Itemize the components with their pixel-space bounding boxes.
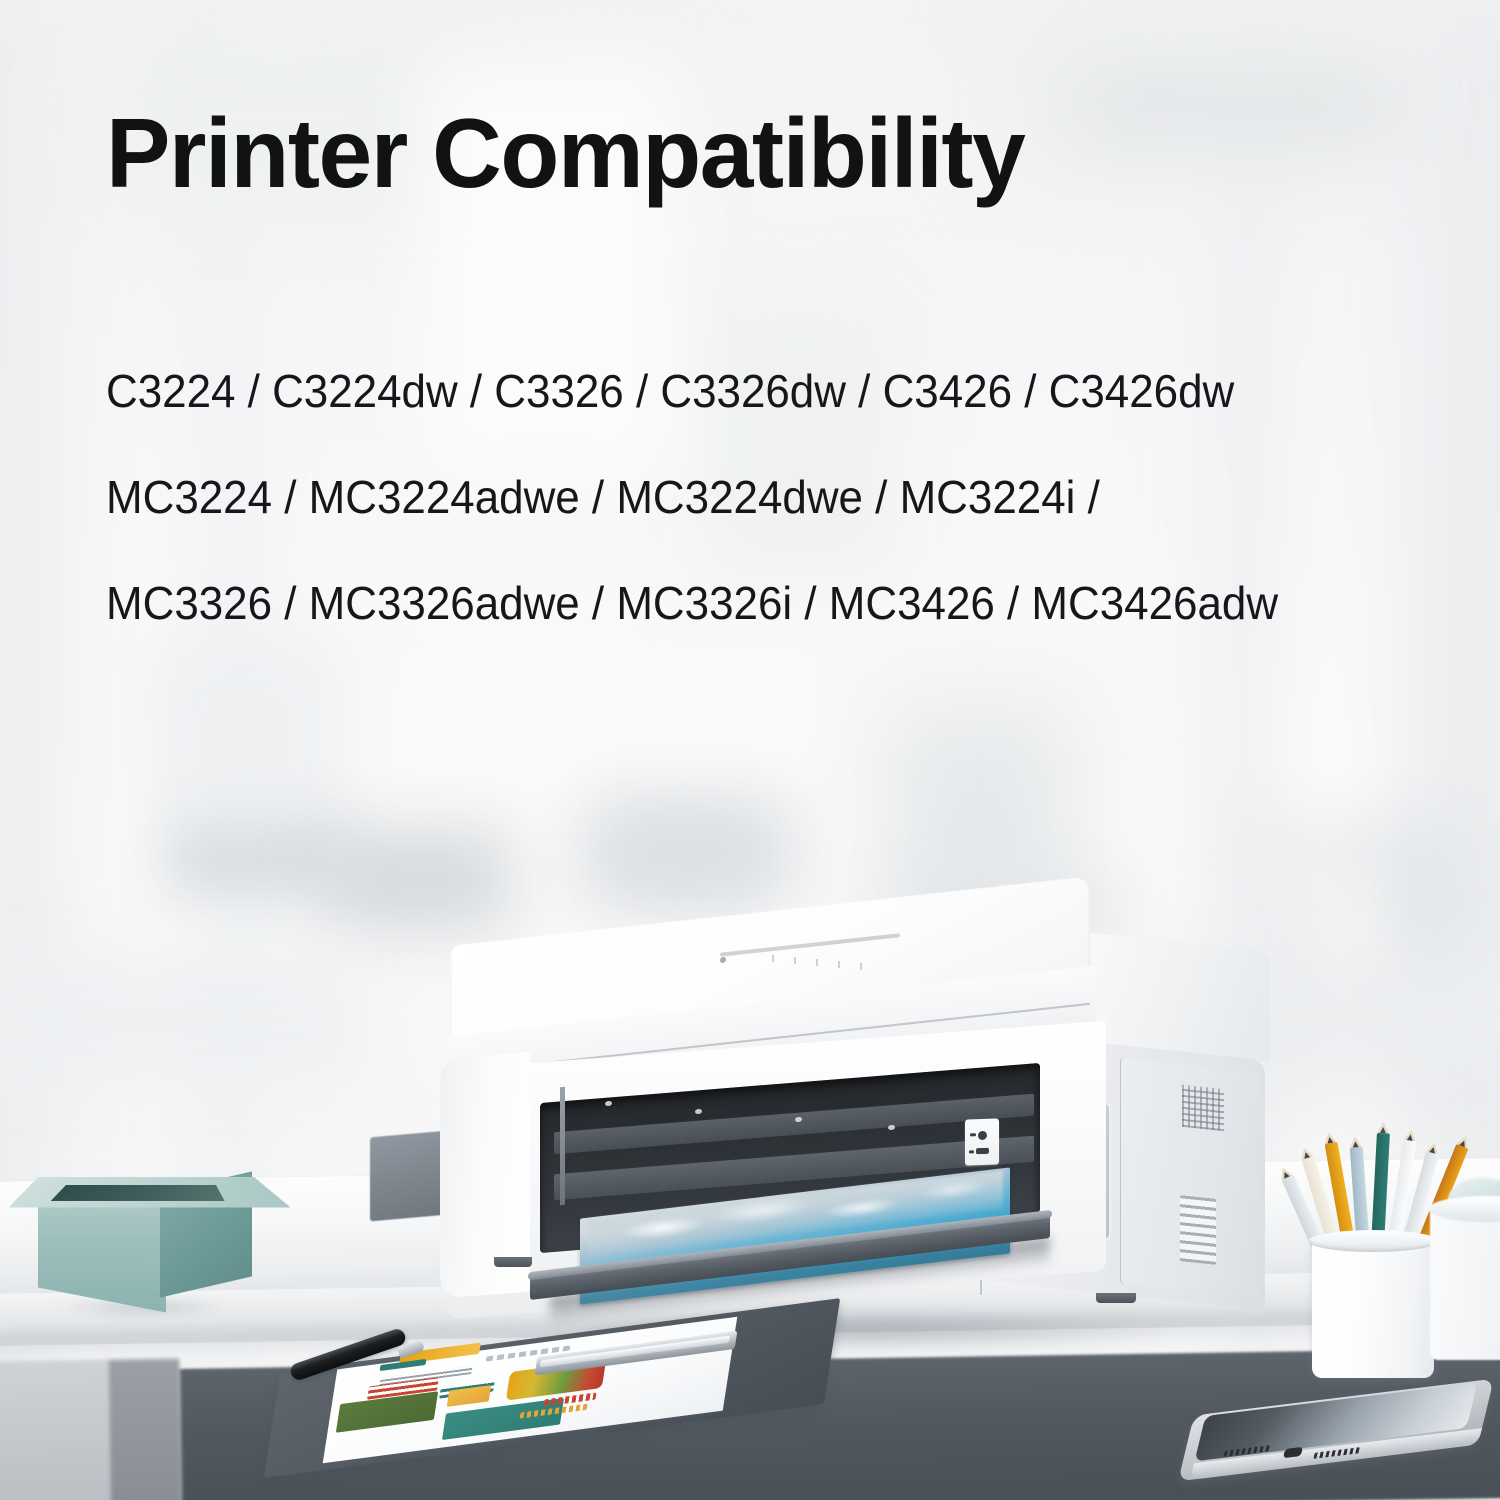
pencil-tip-icon <box>1298 1146 1313 1160</box>
cancel-button-icon[interactable] <box>976 1148 989 1154</box>
product-infographic: Printer Compatibility C3224 / C3224dw / … <box>0 0 1500 1500</box>
pencil-tip-icon <box>1404 1129 1418 1142</box>
printer-lid-tick-3 <box>816 959 818 966</box>
teal-box-opening <box>51 1185 225 1201</box>
pencil-tip-icon <box>1323 1131 1337 1144</box>
printer-control-panel[interactable] <box>965 1118 999 1165</box>
model-line-3: MC3326 / MC3326adwe / MC3326i / MC3426 /… <box>106 550 1367 656</box>
printer <box>420 905 1300 1325</box>
pencil-cup-rim <box>1308 1230 1438 1252</box>
smartphone <box>1186 1388 1500 1498</box>
printer-lid-tick-4 <box>838 961 840 968</box>
printer-foot-left <box>494 1257 532 1267</box>
background-counter-left <box>0 960 360 1080</box>
page-title: Printer Compatibility <box>106 104 1024 202</box>
model-line-1: C3224 / C3224dw / C3326 / C3326dw / C342… <box>106 338 1367 444</box>
printer-vent-slots <box>1180 1195 1216 1265</box>
model-line-2: MC3224 / MC3224adwe / MC3224dwe / MC3224… <box>106 444 1367 550</box>
printer-cavity-left-edge <box>560 1087 565 1205</box>
teal-storage-box <box>14 1165 274 1325</box>
paper-led-icon <box>969 1150 974 1153</box>
printer-vent-grid <box>1182 1085 1224 1131</box>
pencil-tip-icon <box>1456 1134 1471 1149</box>
model-list: C3224 / C3224dw / C3326 / C3326dw / C342… <box>106 338 1426 656</box>
background-poster <box>590 810 770 900</box>
printer-lid-tick-5 <box>860 963 862 970</box>
desk-lower-left-divider <box>109 1359 181 1500</box>
clipboard <box>272 1318 872 1468</box>
printer-lid-tick-2 <box>794 957 796 964</box>
printer-foot-right <box>1096 1293 1136 1303</box>
pencil-cup-body <box>1312 1238 1434 1378</box>
secondary-container <box>1430 1210 1500 1360</box>
pencil-tip-icon <box>1426 1141 1440 1155</box>
power-button-icon[interactable] <box>978 1131 987 1140</box>
background-cabinet-left-shadow <box>170 830 345 890</box>
text-block: Printer Compatibility C3224 / C3224dw / … <box>0 0 1500 700</box>
pencil-tip-icon <box>1377 1122 1390 1134</box>
printer-lid-tick-1 <box>772 955 774 962</box>
status-led-icon <box>970 1133 976 1136</box>
pencil-tip-icon <box>1349 1136 1362 1148</box>
